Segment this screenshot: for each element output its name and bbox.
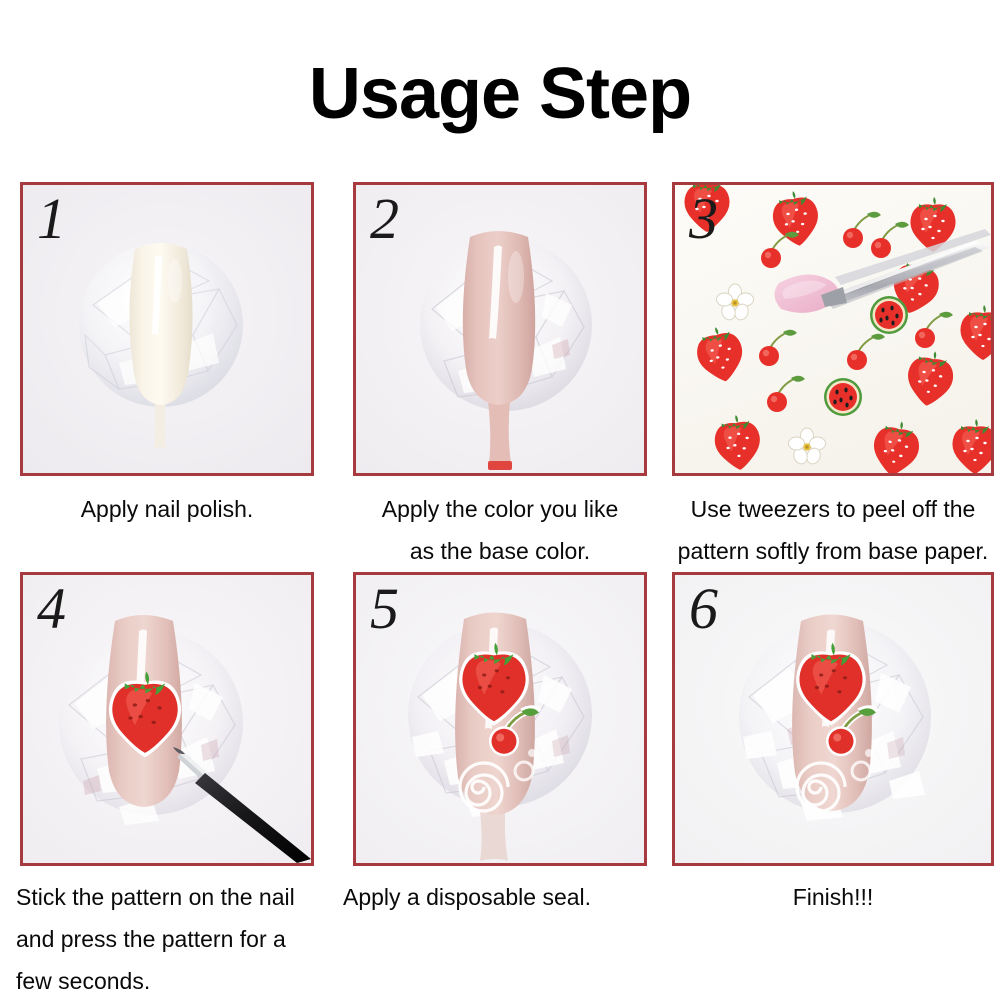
caption-line: Stick the pattern on the nail bbox=[2, 876, 332, 918]
caption-line: Finish!!! bbox=[668, 876, 998, 918]
step-cell-1: 1 Apply nail polish. bbox=[1, 182, 334, 572]
step-panel-4: 4 bbox=[20, 572, 314, 866]
caption-line: pattern softly from base paper. bbox=[668, 530, 998, 572]
step-cell-3: 3 Use tweezers to peel off the pattern s… bbox=[667, 182, 1000, 572]
step-cell-6: 6 Finish!!! bbox=[667, 572, 1000, 1002]
step-cell-5: 5 Apply a disposable seal. bbox=[334, 572, 667, 1002]
step-caption-4: Stick the pattern on the nail and press … bbox=[2, 876, 332, 1002]
step-panel-6: 6 bbox=[672, 572, 994, 866]
step-caption-6: Finish!!! bbox=[668, 876, 998, 918]
nail-base-color-illustration bbox=[356, 185, 644, 473]
caption-line: Apply nail polish. bbox=[2, 488, 332, 530]
caption-line: few seconds. bbox=[2, 960, 332, 1002]
step-panel-5: 5 bbox=[353, 572, 647, 866]
caption-line: and press the pattern for a bbox=[2, 918, 332, 960]
apply-decal-brush-illustration bbox=[23, 575, 311, 863]
step-panel-3: 3 bbox=[672, 182, 994, 476]
page-title: Usage Step bbox=[0, 0, 1000, 130]
step-panel-2: 2 bbox=[353, 182, 647, 476]
step-panel-1: 1 bbox=[20, 182, 314, 476]
step-caption-5: Apply a disposable seal. bbox=[335, 876, 665, 918]
caption-line: as the base color. bbox=[335, 530, 665, 572]
caption-line: Apply the color you like bbox=[335, 488, 665, 530]
nail-polish-white-illustration bbox=[23, 185, 311, 473]
step-caption-3: Use tweezers to peel off the pattern sof… bbox=[668, 488, 998, 572]
step-caption-2: Apply the color you like as the base col… bbox=[335, 488, 665, 572]
sticker-sheet-tweezers-illustration bbox=[675, 185, 991, 473]
usage-steps-grid: 1 Apply nail polish. bbox=[0, 182, 1000, 1002]
step-caption-1: Apply nail polish. bbox=[2, 488, 332, 530]
caption-line: Apply a disposable seal. bbox=[335, 876, 665, 918]
step-cell-2: 2 Apply the color you like as the base c… bbox=[334, 182, 667, 572]
finished-nail-illustration bbox=[675, 575, 991, 863]
caption-line: Use tweezers to peel off the bbox=[668, 488, 998, 530]
disposable-seal-illustration bbox=[356, 575, 644, 863]
step-cell-4: 4 Stick the pattern on the nail and pres… bbox=[1, 572, 334, 1002]
